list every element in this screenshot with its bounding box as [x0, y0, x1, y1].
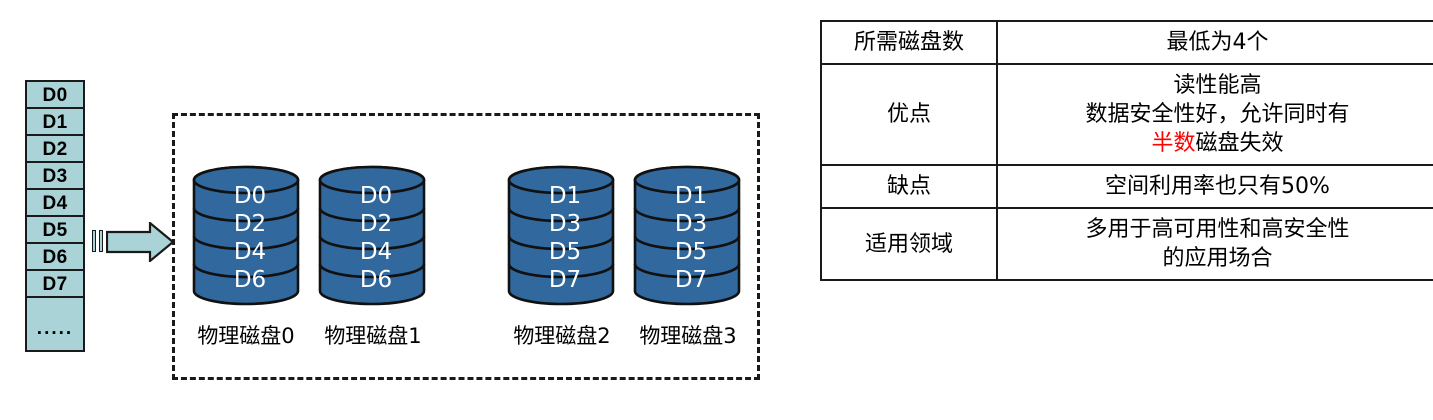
disk-block-label: D7 — [675, 267, 707, 293]
arrow-tail-segment — [92, 230, 96, 252]
highlight-text: 半数 — [1151, 131, 1195, 156]
disk-caption: 物理磁盘3 — [623, 320, 753, 350]
spec-value: 多用于高可用性和高安全性 的应用场合 — [997, 208, 1433, 280]
spec-value-line: 空间利用率也只有50% — [1002, 172, 1433, 201]
spec-value-line-highlighted: 半数磁盘失效 — [1002, 129, 1433, 158]
disk-block-label: D4 — [234, 239, 266, 265]
data-block: D7 — [27, 271, 83, 298]
disk-block-label: D4 — [360, 239, 392, 265]
raid-spec-table: 所需磁盘数 最低为4个 优点 读性能高 数据安全性好，允许同时有 半数磁盘失效 … — [820, 20, 1433, 281]
spec-value: 空间利用率也只有50% — [997, 165, 1433, 208]
table-row: 所需磁盘数 最低为4个 — [821, 21, 1433, 64]
disk-block-label: D3 — [675, 211, 707, 237]
spec-value: 最低为4个 — [997, 21, 1433, 64]
physical-disk: D1 D3 D5 D7 — [633, 163, 741, 308]
disk-block-label: D3 — [549, 211, 581, 237]
disk-block-label: D2 — [360, 211, 392, 237]
spec-value-line: 数据安全性好，允许同时有 — [1002, 100, 1433, 129]
physical-disk: D0 D2 D4 D6 — [318, 163, 426, 308]
spec-value: 读性能高 数据安全性好，允许同时有 半数磁盘失效 — [997, 64, 1433, 165]
disk-block-label: D5 — [549, 239, 581, 265]
data-block: D0 — [27, 82, 83, 109]
logical-data-stream: D0 D1 D2 D3 D4 D5 D6 D7 ..... — [25, 80, 85, 352]
data-block: D3 — [27, 163, 83, 190]
data-block: D2 — [27, 136, 83, 163]
disk-block-label: D5 — [675, 239, 707, 265]
data-block: D1 — [27, 109, 83, 136]
arrow-tail-segment — [99, 230, 103, 252]
spec-key: 缺点 — [821, 165, 997, 208]
spec-value-line: 多用于高可用性和高安全性 — [1002, 215, 1433, 244]
table-row: 缺点 空间利用率也只有50% — [821, 165, 1433, 208]
physical-disk: D1 D3 D5 D7 — [507, 163, 615, 308]
spec-value-line: 的应用场合 — [1002, 244, 1433, 273]
disk-caption: 物理磁盘2 — [497, 320, 627, 350]
data-block: D6 — [27, 244, 83, 271]
spec-key: 所需磁盘数 — [821, 21, 997, 64]
disk-block-label: D0 — [360, 183, 392, 209]
disk-block-label: D6 — [234, 267, 266, 293]
spec-key: 优点 — [821, 64, 997, 165]
disk-block-label: D1 — [549, 183, 581, 209]
physical-disk: D0 D2 D4 D6 — [192, 163, 300, 308]
data-block: D5 — [27, 217, 83, 244]
spec-value-line: 读性能高 — [1002, 71, 1433, 100]
flow-arrow — [92, 222, 174, 262]
data-block: D4 — [27, 190, 83, 217]
spec-key: 适用领域 — [821, 208, 997, 280]
disk-block-label: D6 — [360, 267, 392, 293]
spec-value-line: 最低为4个 — [1002, 28, 1433, 57]
data-block-continuation: ..... — [27, 298, 83, 350]
disk-block-label: D2 — [234, 211, 266, 237]
disk-block-label: D0 — [234, 183, 266, 209]
table-row: 适用领域 多用于高可用性和高安全性 的应用场合 — [821, 208, 1433, 280]
disk-block-label: D7 — [549, 267, 581, 293]
arrow-head-icon — [106, 222, 174, 262]
table-row: 优点 读性能高 数据安全性好，允许同时有 半数磁盘失效 — [821, 64, 1433, 165]
disk-block-label: D1 — [675, 183, 707, 209]
highlight-rest-text: 磁盘失效 — [1196, 131, 1284, 156]
disk-caption: 物理磁盘1 — [308, 320, 438, 350]
disk-caption: 物理磁盘0 — [181, 320, 311, 350]
